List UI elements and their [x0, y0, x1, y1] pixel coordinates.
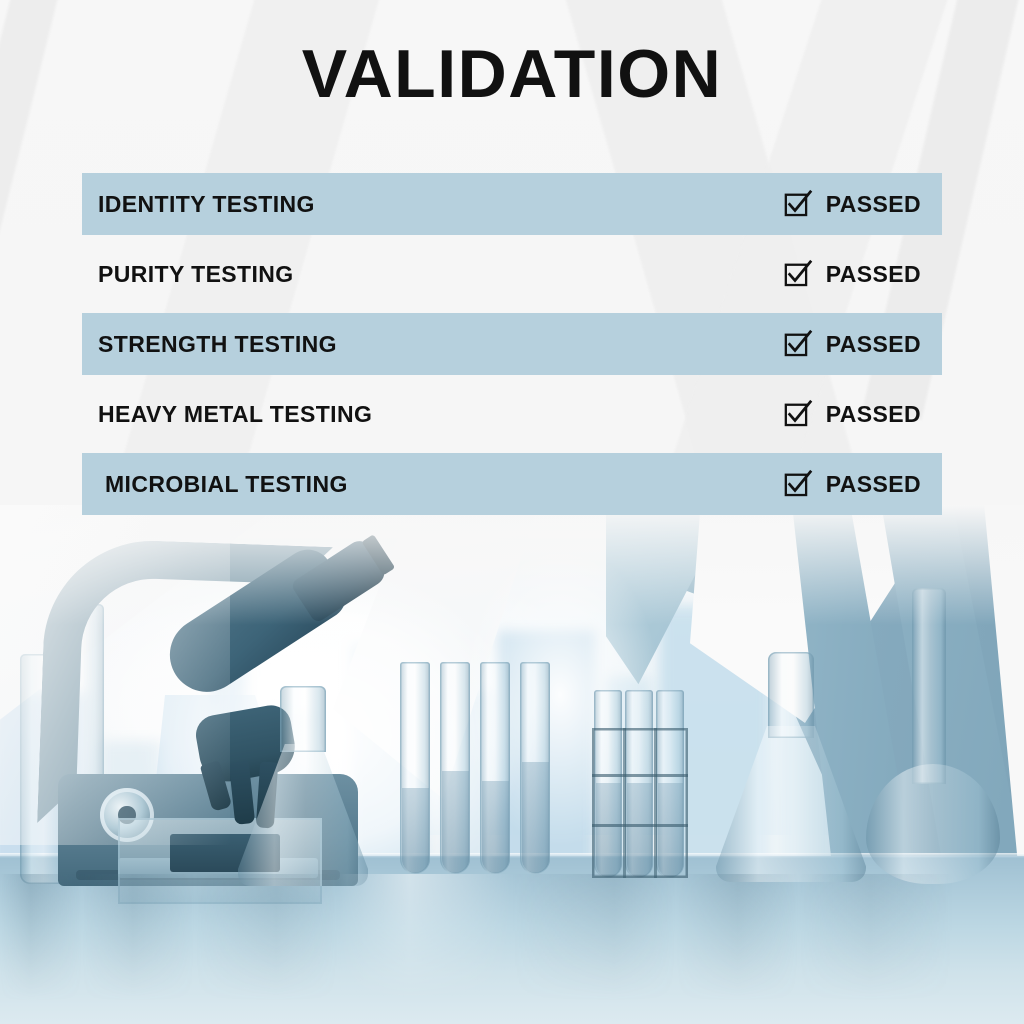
test-tube-rack	[592, 728, 688, 878]
checkbox-checked-icon[interactable]	[783, 399, 813, 429]
erlenmeyer-flask	[238, 686, 368, 886]
test-tube	[520, 662, 550, 874]
checklist-row-label: IDENTITY TESTING	[98, 191, 315, 218]
checklist-row-microbial-testing[interactable]: MICROBIAL TESTING PASSED	[82, 453, 942, 515]
checklist-row-heavy-metal-testing[interactable]: HEAVY METAL TESTING PASSED	[82, 383, 942, 445]
status-badge: PASSED	[826, 471, 921, 498]
checklist-row-label: HEAVY METAL TESTING	[98, 401, 372, 428]
checklist-row-status: PASSED	[783, 329, 926, 359]
checklist-row-label: STRENGTH TESTING	[98, 331, 337, 358]
checklist-row-status: PASSED	[783, 189, 926, 219]
checklist-row-purity-testing[interactable]: PURITY TESTING PASSED	[82, 243, 942, 305]
volumetric-flask	[866, 588, 1000, 884]
status-badge: PASSED	[826, 261, 921, 288]
checklist-row-status: PASSED	[783, 259, 926, 289]
status-badge: PASSED	[826, 191, 921, 218]
validation-poster: VALIDATION IDENTITY TESTING PASSED PURIT…	[0, 0, 1024, 1024]
checklist-row-status: PASSED	[783, 399, 926, 429]
laboratory-glassware-photo	[0, 505, 1024, 1024]
validation-checklist: IDENTITY TESTING PASSED PURITY TESTING P…	[82, 173, 942, 523]
checklist-row-strength-testing[interactable]: STRENGTH TESTING PASSED	[82, 313, 942, 375]
checkbox-checked-icon[interactable]	[783, 189, 813, 219]
checklist-row-label: MICROBIAL TESTING	[98, 471, 348, 498]
checklist-row-status: PASSED	[783, 469, 926, 499]
checklist-row-label: PURITY TESTING	[98, 261, 294, 288]
table-reflections	[0, 874, 1024, 1024]
page-title: VALIDATION	[0, 40, 1024, 108]
checkbox-checked-icon[interactable]	[783, 469, 813, 499]
test-tube	[400, 662, 430, 874]
test-tube	[440, 662, 470, 874]
status-badge: PASSED	[826, 331, 921, 358]
conical-flask	[716, 652, 866, 882]
status-badge: PASSED	[826, 401, 921, 428]
checkbox-checked-icon[interactable]	[783, 259, 813, 289]
checkbox-checked-icon[interactable]	[783, 329, 813, 359]
test-tube	[480, 662, 510, 874]
checklist-row-identity-testing[interactable]: IDENTITY TESTING PASSED	[82, 173, 942, 235]
